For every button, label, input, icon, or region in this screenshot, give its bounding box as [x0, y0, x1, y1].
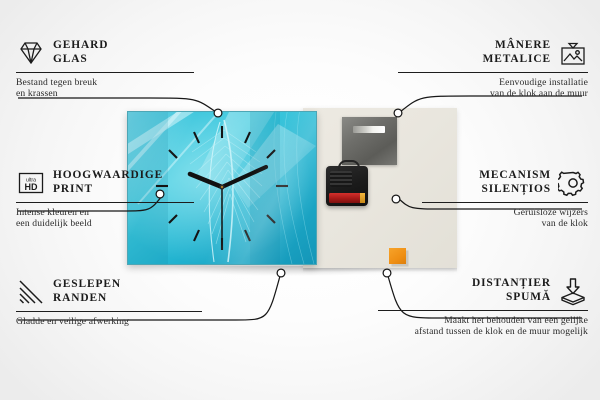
spacer-arrow-icon: [558, 276, 588, 306]
battery: [329, 193, 365, 203]
feature-title: MÂNERE METALICE: [483, 39, 551, 66]
divider: [16, 311, 202, 312]
feature-title: HOOGWAARDIGE PRINT: [53, 169, 163, 196]
hanger-slot: [353, 126, 385, 133]
diamond-icon: [16, 38, 46, 68]
svg-text:HD: HD: [25, 182, 38, 192]
divider: [16, 202, 194, 203]
feature-header: MÂNERE METALICE: [398, 38, 588, 68]
feature-metal-handles[interactable]: MÂNERE METALICE Eenvoudige installatie v…: [398, 38, 588, 100]
divider: [16, 72, 194, 73]
feature-description: Intense kleuren en een duidelijk beeld: [16, 207, 194, 230]
divider: [422, 202, 588, 203]
feature-header: MECANISM SILENȚIOS: [422, 168, 588, 198]
feature-description: Gladde en veilige afwerking: [16, 316, 202, 328]
movement-hanger-loop: [338, 160, 360, 171]
foam-spacer: [389, 248, 406, 264]
feature-description: Eenvoudige installatie van de klok aan d…: [398, 77, 588, 100]
gear-icon: [558, 168, 588, 198]
infographic-canvas: GEHARD GLAS Bestand tegen breuk en krass…: [0, 0, 600, 400]
feature-header: DISTANȚIER SPUMĂ: [378, 276, 588, 306]
feature-header: GEHARD GLAS: [16, 38, 194, 68]
divider: [398, 72, 588, 73]
feature-tempered-glass[interactable]: GEHARD GLAS Bestand tegen breuk en krass…: [16, 38, 194, 100]
picture-frame-hook-icon: [558, 38, 588, 68]
feature-polished-edges[interactable]: GESLEPEN RANDEN Gladde en veilige afwerk…: [16, 277, 202, 327]
beveled-edges-icon: [16, 277, 46, 307]
feature-header: GESLEPEN RANDEN: [16, 277, 202, 307]
feature-high-quality-print[interactable]: ultra HD HOOGWAARDIGE PRINT Intense kleu…: [16, 168, 194, 230]
movement-grill: [330, 171, 352, 187]
feature-header: ultra HD HOOGWAARDIGE PRINT: [16, 168, 194, 198]
feature-description: Geruisloze wijzers van de klok: [422, 207, 588, 230]
divider: [378, 310, 588, 311]
feature-title: MECANISM SILENȚIOS: [479, 169, 551, 196]
quartz-movement: [326, 166, 368, 206]
ultra-hd-icon: ultra HD: [16, 168, 46, 198]
feature-description: Maakt het behouden van een gelijke afsta…: [378, 315, 588, 338]
feature-description: Bestand tegen breuk en krassen: [16, 77, 194, 100]
feature-foam-spacer[interactable]: DISTANȚIER SPUMĂ Maakt het behouden van …: [378, 276, 588, 338]
feature-title: GESLEPEN RANDEN: [53, 278, 121, 305]
metal-hanger-bracket: [342, 117, 397, 165]
feature-title: GEHARD GLAS: [53, 39, 108, 66]
feature-silent-mechanism[interactable]: MECANISM SILENȚIOS Geruisloze wijzers va…: [422, 168, 588, 230]
feature-title: DISTANȚIER SPUMĂ: [472, 277, 551, 304]
battery-terminal: [360, 193, 365, 203]
